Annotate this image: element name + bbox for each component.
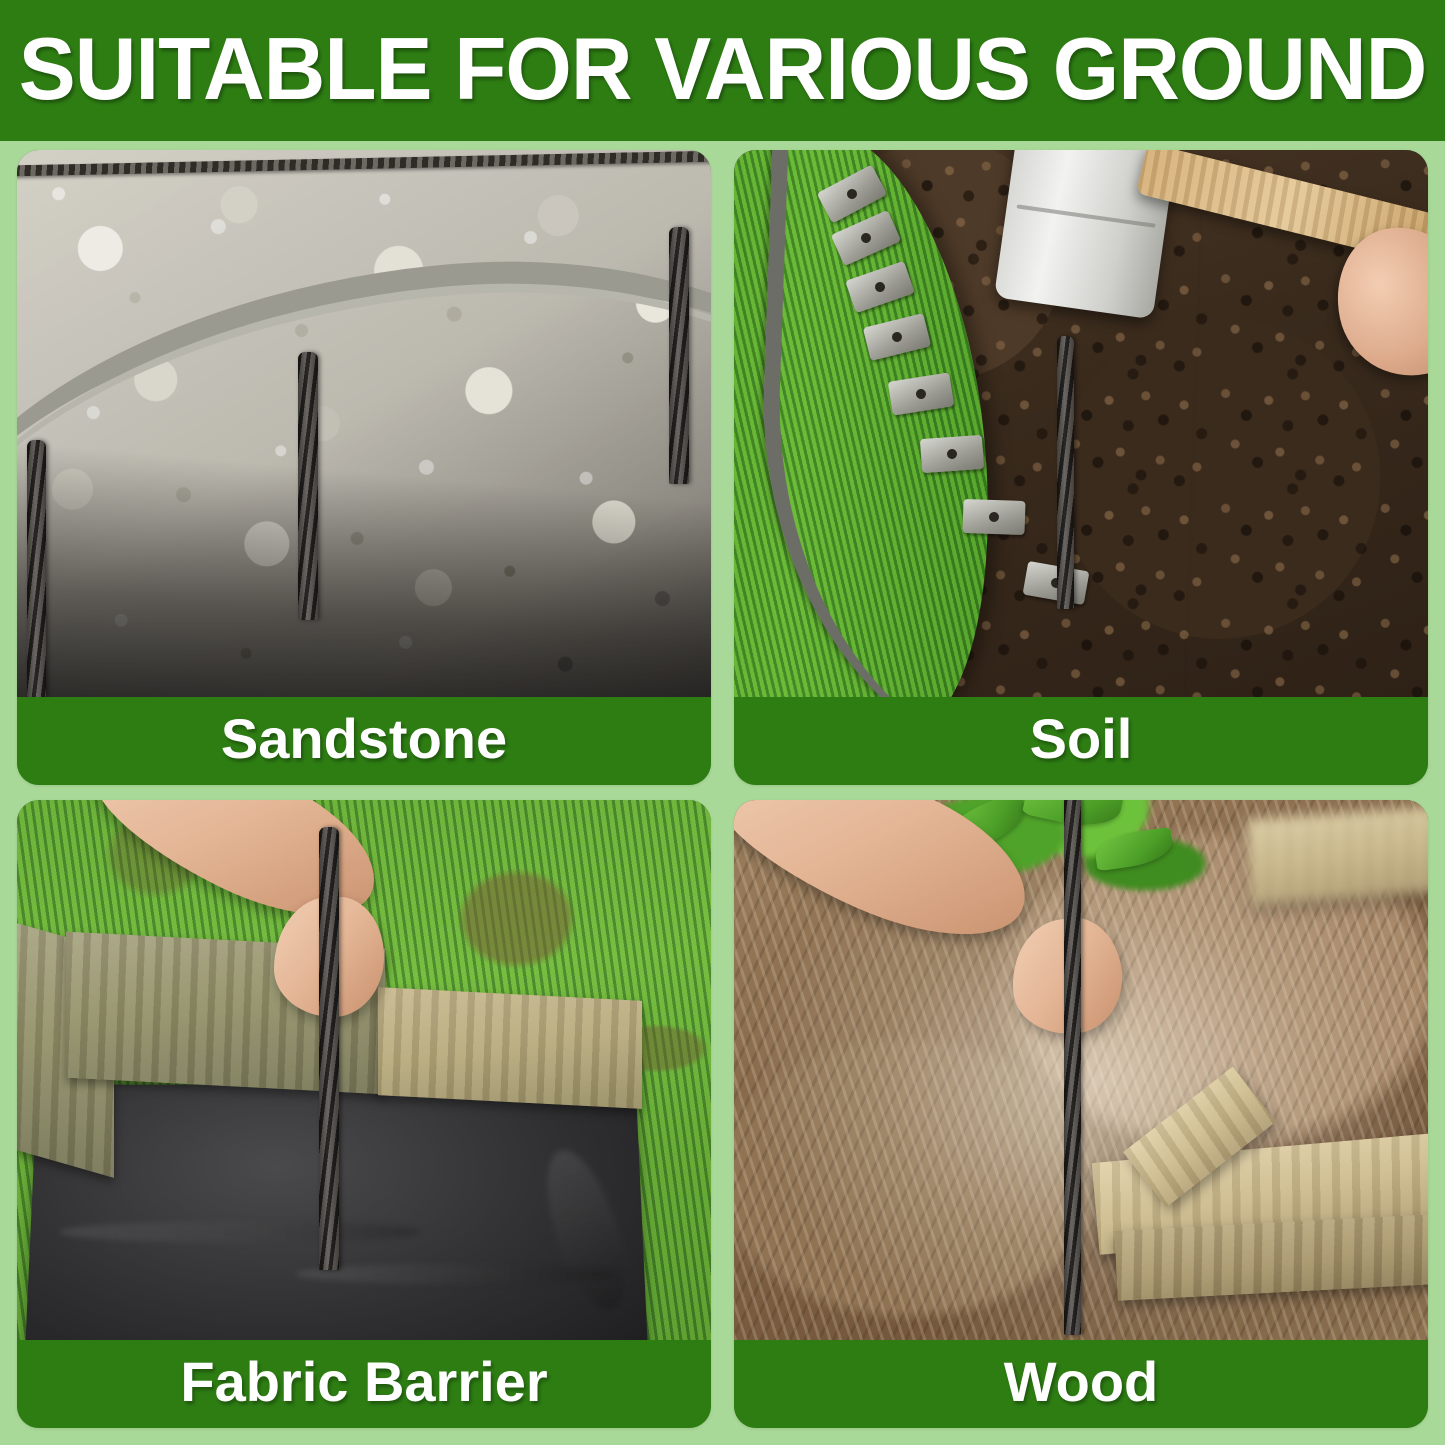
caption-sandstone: Sandstone [17, 697, 711, 785]
caption-label-sandstone: Sandstone [221, 711, 507, 771]
edging-stake-tab-7 [962, 499, 1025, 535]
caption-fabric-barrier: Fabric Barrier [17, 1340, 711, 1428]
rebar-stake-right [669, 227, 689, 484]
card-fabric-barrier[interactable]: Fabric Barrier [17, 800, 711, 1428]
caption-label-fabric-barrier: Fabric Barrier [180, 1354, 547, 1414]
photo-soil [734, 150, 1428, 697]
caption-soil: Soil [734, 697, 1428, 785]
rebar-stake-left [27, 440, 46, 697]
gravel-shadow-overlay [17, 150, 711, 697]
wood-board-background [1245, 803, 1428, 906]
edging-stake-tab-6 [920, 435, 984, 473]
timber-right-board [378, 987, 642, 1109]
rebar-stake-through-fabric [319, 827, 339, 1270]
card-soil[interactable]: Soil [734, 150, 1428, 785]
card-sandstone[interactable]: Sandstone [17, 150, 711, 785]
photo-sandstone [17, 150, 711, 697]
rebar-stake-in-soil [1057, 336, 1074, 610]
caption-label-soil: Soil [1030, 711, 1133, 771]
page-title: SUITABLE FOR VARIOUS GROUND [19, 25, 1427, 117]
ground-type-grid: Sandstone [17, 150, 1428, 1428]
header-banner: SUITABLE FOR VARIOUS GROUND [0, 0, 1445, 141]
infographic-page: SUITABLE FOR VARIOUS GROUND Sandstone [0, 0, 1445, 1445]
rebar-stake-center [298, 352, 318, 620]
rebar-stake-held [1064, 800, 1081, 1335]
card-wood[interactable]: Wood [734, 800, 1428, 1428]
caption-label-wood: Wood [1004, 1354, 1158, 1414]
photo-fabric-barrier [17, 800, 711, 1340]
photo-wood [734, 800, 1428, 1340]
fabric-fold-1 [59, 1221, 420, 1243]
caption-wood: Wood [734, 1340, 1428, 1428]
